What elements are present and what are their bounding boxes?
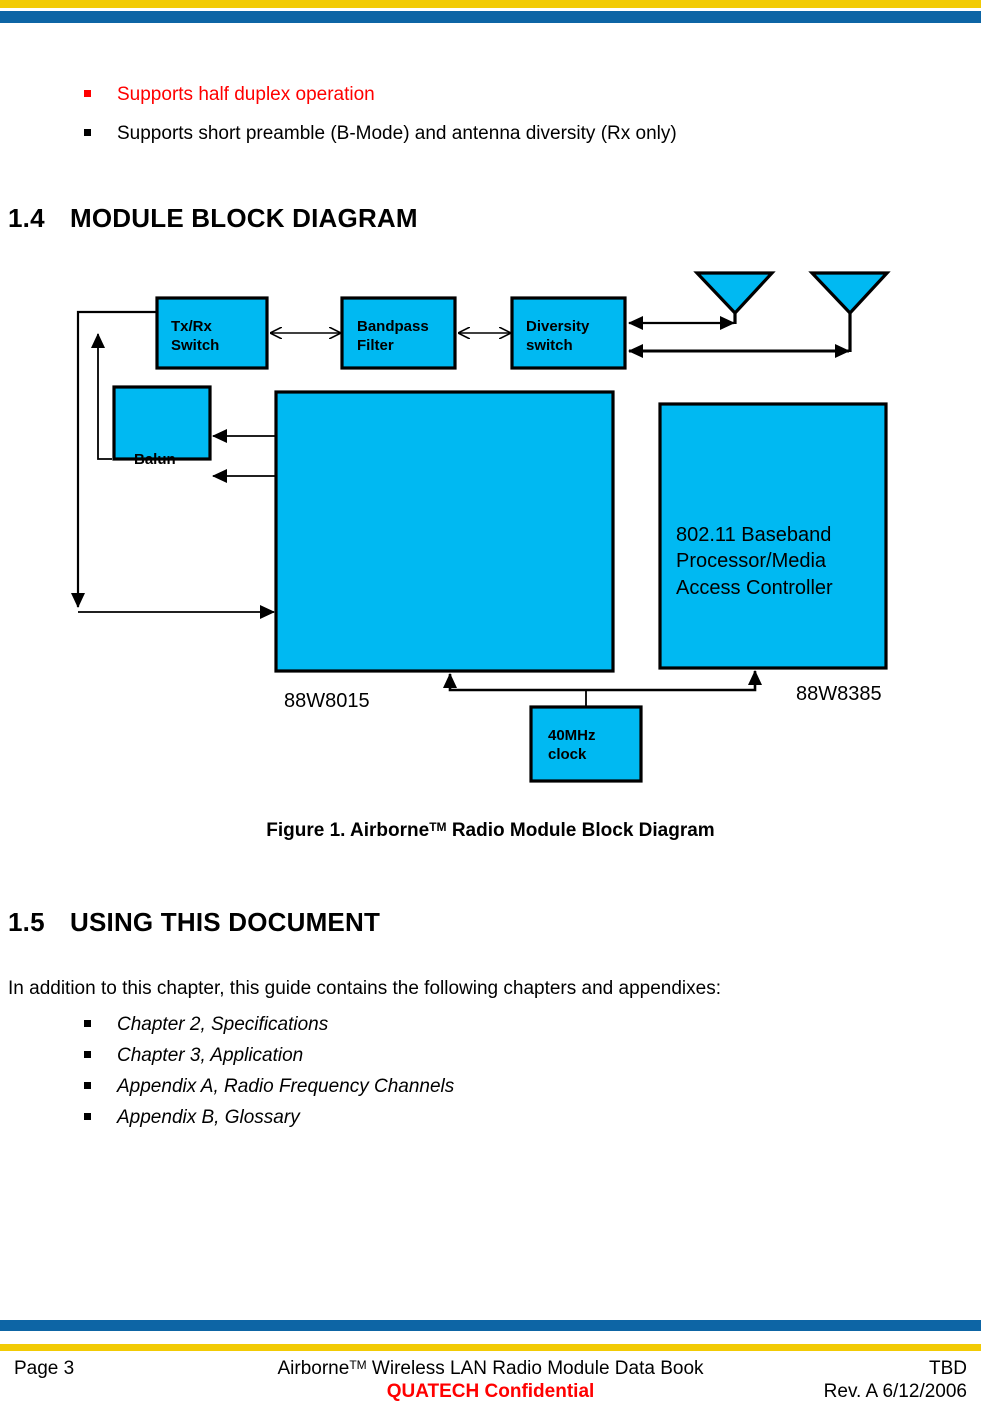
square-bullet-icon — [84, 1020, 91, 1027]
footer-document-title: AirborneTM Wireless LAN Radio Module Dat… — [0, 1358, 981, 1380]
figure-caption: Figure 1. AirborneTM Radio Module Block … — [0, 820, 981, 842]
chapter-list: Chapter 2, Specifications Chapter 3, App… — [84, 1014, 454, 1138]
figure-caption-prefix: Figure 1. Airborne — [266, 820, 429, 841]
footer-blue-rule — [0, 1320, 981, 1331]
header-yellow-rule — [0, 0, 981, 8]
section-heading-block-diagram: 1.4MODULE BLOCK DIAGRAM — [8, 203, 418, 234]
clock-to-baseband-path — [586, 671, 755, 690]
footer-title-prefix: Airborne — [277, 1358, 349, 1379]
list-item: Appendix A, Radio Frequency Channels — [84, 1076, 454, 1107]
balun-label: Balun — [134, 450, 176, 469]
square-bullet-icon — [84, 1051, 91, 1058]
square-bullet-icon — [84, 129, 91, 136]
footer-title-suffix: Wireless LAN Radio Module Data Book — [367, 1358, 704, 1379]
antenna-2-icon — [812, 273, 887, 313]
balun-box — [114, 387, 210, 459]
baseband-processor-label: 802.11 Baseband Processor/Media Access C… — [676, 522, 833, 601]
balun-to-txrx-path — [98, 334, 112, 459]
list-item: Chapter 3, Application — [84, 1045, 454, 1076]
header-blue-rule — [0, 11, 981, 23]
diversity-switch-label: Diversity switch — [526, 317, 589, 355]
list-item-label: Appendix B, Glossary — [117, 1107, 300, 1129]
footer-revision: Rev. A 6/12/2006 — [824, 1381, 967, 1403]
list-item: Appendix B, Glossary — [84, 1107, 454, 1138]
right-chip-part-number: 88W8385 — [796, 683, 882, 706]
section-number: 1.4 — [8, 203, 70, 234]
trademark-icon: TM — [349, 1358, 366, 1372]
module-block-diagram: Tx/Rx Switch Bandpass Filter Diversity s… — [0, 260, 981, 800]
left-chip-part-number: 88W8015 — [284, 690, 370, 713]
feature-bullet-label: Supports half duplex operation — [117, 84, 375, 106]
figure-caption-suffix: Radio Module Block Diagram — [447, 820, 715, 841]
section-number: 1.5 — [8, 907, 70, 938]
clock-to-rf-path — [450, 674, 586, 690]
bandpass-filter-label: Bandpass Filter — [357, 317, 429, 355]
list-item-label: Chapter 2, Specifications — [117, 1014, 328, 1036]
section-title: USING THIS DOCUMENT — [70, 907, 380, 937]
txrx-switch-label: Tx/Rx Switch — [171, 317, 219, 355]
feature-bullet-item: Supports half duplex operation — [84, 84, 375, 106]
intro-paragraph: In addition to this chapter, this guide … — [8, 978, 721, 1000]
footer-yellow-rule — [0, 1344, 981, 1351]
block-diagram-canvas — [0, 260, 981, 800]
list-item-label: Chapter 3, Application — [117, 1045, 303, 1067]
clock-label: 40MHz clock — [548, 726, 596, 764]
square-bullet-icon — [84, 1082, 91, 1089]
rf-transceiver-box — [276, 392, 613, 671]
feature-bullet-item: Supports short preamble (B-Mode) and ant… — [84, 123, 677, 145]
section-heading-using-document: 1.5USING THIS DOCUMENT — [8, 907, 380, 938]
antenna-1-icon — [697, 273, 772, 313]
list-item-label: Appendix A, Radio Frequency Channels — [117, 1076, 454, 1098]
feature-bullet-label: Supports short preamble (B-Mode) and ant… — [117, 123, 677, 145]
square-bullet-icon — [84, 90, 91, 97]
list-item: Chapter 2, Specifications — [84, 1014, 454, 1045]
footer-tbd-label: TBD — [929, 1358, 967, 1380]
section-title: MODULE BLOCK DIAGRAM — [70, 203, 418, 233]
square-bullet-icon — [84, 1113, 91, 1120]
trademark-icon: TM — [429, 820, 446, 834]
